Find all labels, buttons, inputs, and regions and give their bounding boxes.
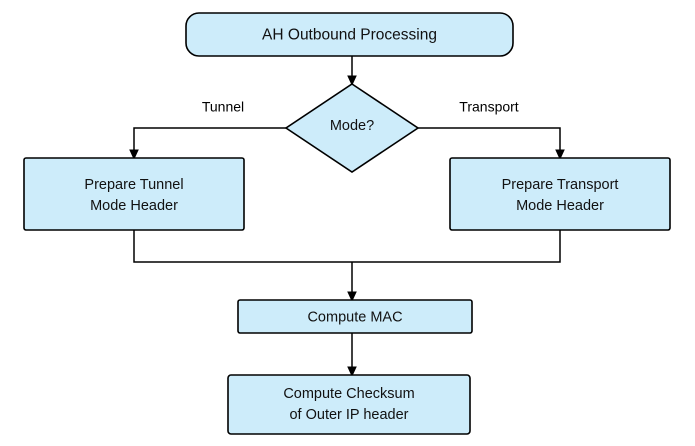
node-label-transport-line2: Mode Header xyxy=(516,198,604,214)
edge-label-tunnel: Tunnel xyxy=(202,99,244,115)
node-ah-outbound-processing[interactable]: AH Outbound Processing xyxy=(186,13,513,56)
node-label-compute-mac: Compute MAC xyxy=(307,309,402,325)
edge-label-transport: Transport xyxy=(459,99,519,115)
connector-mac-to-checksum xyxy=(347,333,357,377)
connector-decision-to-transport xyxy=(418,128,565,160)
node-label-start: AH Outbound Processing xyxy=(262,27,437,44)
node-shape-rectangle xyxy=(450,158,670,230)
node-prepare-tunnel-mode-header[interactable]: Prepare Tunnel Mode Header xyxy=(24,158,244,230)
node-label-tunnel-line2: Mode Header xyxy=(90,198,178,214)
connector-transport-to-merge xyxy=(352,230,560,262)
flowchart-svg: AH Outbound Processing Mode? Tunnel Tran… xyxy=(0,0,695,446)
node-label-transport-line1: Prepare Transport xyxy=(502,177,619,193)
node-label-checksum-line2: of Outer IP header xyxy=(289,407,408,423)
connector-decision-to-tunnel xyxy=(129,128,286,160)
node-prepare-transport-mode-header[interactable]: Prepare Transport Mode Header xyxy=(450,158,670,230)
node-shape-rectangle xyxy=(24,158,244,230)
connector-start-to-decision xyxy=(347,56,357,86)
node-compute-checksum[interactable]: Compute Checksum of Outer IP header xyxy=(228,375,470,434)
connector-tunnel-to-merge xyxy=(134,230,352,262)
node-mode-decision[interactable]: Mode? xyxy=(286,84,418,172)
node-compute-mac[interactable]: Compute MAC xyxy=(238,300,472,333)
node-label-checksum-line1: Compute Checksum xyxy=(283,386,414,402)
node-label-tunnel-line1: Prepare Tunnel xyxy=(84,177,183,193)
node-shape-rectangle xyxy=(228,375,470,434)
connector-merge-to-compute-mac xyxy=(347,262,357,302)
flowchart-canvas: AH Outbound Processing Mode? Tunnel Tran… xyxy=(0,0,695,446)
node-label-decision: Mode? xyxy=(330,118,374,134)
